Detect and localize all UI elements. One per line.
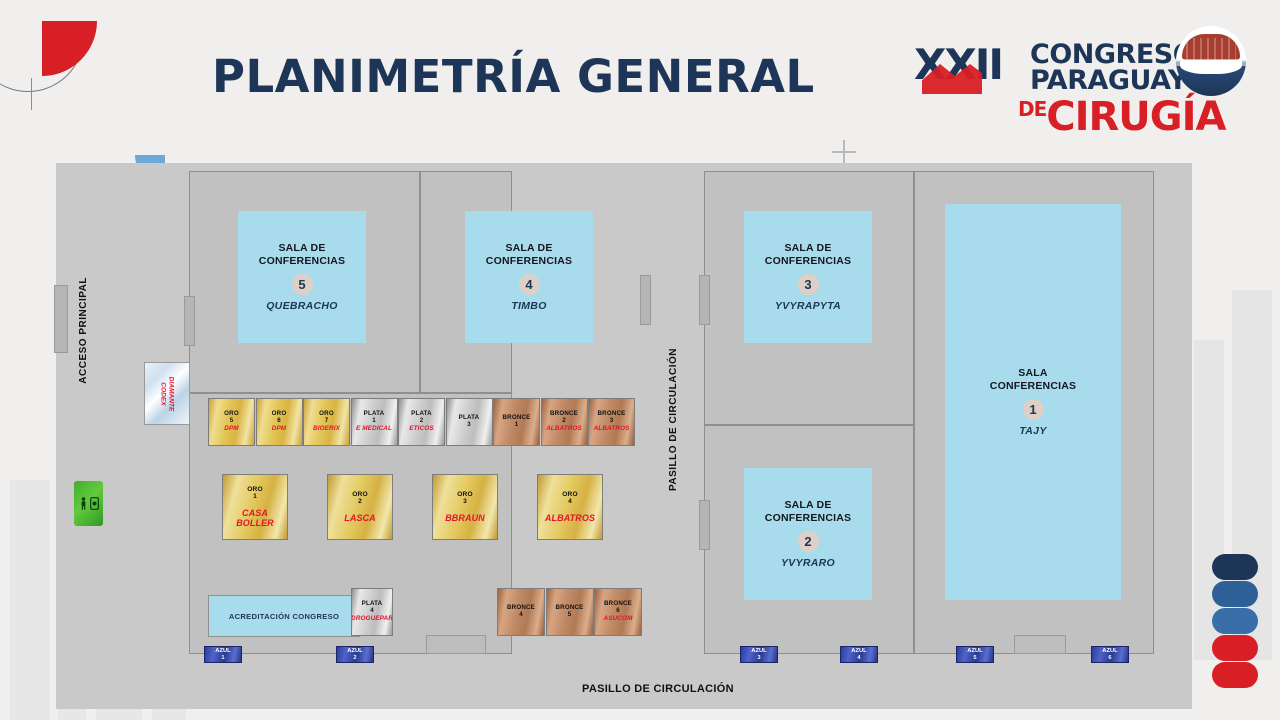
booth-number: 3 [463, 498, 467, 505]
booth-oro-3[interactable]: ORO3BBRAUN [432, 474, 498, 540]
sala-name: YVYRAPYTA [775, 300, 841, 312]
decorative-line [31, 78, 32, 110]
booth-tier: ORO [562, 491, 578, 498]
booth-tier: ORO [457, 491, 473, 498]
booth-number: 4 [370, 608, 373, 615]
door-nub-left-east [640, 275, 651, 325]
decorative-arc [0, 0, 84, 92]
door-gap-right-south [1014, 635, 1066, 654]
booth-bronce-2[interactable]: BRONCE2ALBATROS [541, 398, 588, 446]
booth-oro-2[interactable]: ORO2LASCA [327, 474, 393, 540]
sala-name: TIMBO [511, 300, 546, 312]
booth-number: 3 [467, 422, 470, 429]
sala-number: 1 [1023, 399, 1044, 420]
booth-brand: DPM [272, 426, 287, 433]
booth-brand: LASCA [344, 513, 376, 523]
booth-brand: BBRAUN [445, 513, 485, 523]
sala-number: 3 [798, 274, 819, 295]
booth-number: 4 [568, 498, 572, 505]
azul-marker-1[interactable]: AZUL1 [204, 646, 242, 663]
booth-number: 7 [325, 418, 328, 425]
divider-rooms-expo [189, 392, 512, 394]
booth-bronce-3[interactable]: BRONCE3ALBATROS [588, 398, 635, 446]
door-gap-left-south [426, 635, 486, 654]
azul-marker-4[interactable]: AZUL4 [840, 646, 878, 663]
brand-mark-decoration [1212, 554, 1258, 714]
floorplan-canvas: SALA DECONFERENCIAS 5 QUEBRACHO SALA DEC… [56, 163, 1192, 709]
booth-plata-2[interactable]: PLATA2ETICOS [398, 398, 445, 446]
page-title: PLANIMETRÍA GENERAL [212, 50, 815, 103]
azul-number: 1 [221, 655, 224, 661]
divider-sala5-sala4 [419, 171, 421, 394]
azul-number: 5 [973, 655, 976, 661]
restroom-icon [74, 481, 103, 526]
label-acceso-principal: ACCESO PRINCIPAL [78, 277, 89, 384]
booth-number: 1 [372, 418, 375, 425]
booth-number: 6 [277, 418, 280, 425]
booth-brand: BIOERIX [313, 426, 340, 433]
accreditation-booth[interactable]: ACREDITACIÓN CONGRESO [208, 595, 360, 637]
sala-conferencias-5[interactable]: SALA DECONFERENCIAS 5 QUEBRACHO [238, 211, 366, 343]
booth-number: 4 [519, 612, 522, 619]
sala-number: 4 [519, 274, 540, 295]
sala-title: SALACONFERENCIAS [990, 367, 1076, 393]
sala-conferencias-3[interactable]: SALA DECONFERENCIAS 3 YVYRAPYTA [744, 211, 872, 343]
logo-de: DE [1018, 97, 1046, 121]
booth-brand: CASABOLLER [236, 508, 274, 528]
azul-number: 6 [1108, 655, 1111, 661]
sala-number: 5 [292, 274, 313, 295]
booth-number: 3 [610, 418, 613, 425]
divider-sala3-sala2 [704, 424, 914, 426]
divider-right-vertical [913, 171, 915, 654]
booth-number: 5 [230, 418, 233, 425]
azul-number: 4 [857, 655, 860, 661]
azul-number: 3 [757, 655, 760, 661]
sala-title: SALA DECONFERENCIAS [765, 242, 851, 268]
booth-tier: ORO [352, 491, 368, 498]
azul-marker-5[interactable]: AZUL5 [956, 646, 994, 663]
door-nub-right-west-bottom [699, 500, 710, 550]
booth-brand: ALBATROS [594, 426, 630, 433]
booth-brand: ASUCOM [603, 616, 632, 623]
azul-number: 2 [353, 655, 356, 661]
booth-number: 1 [253, 493, 257, 500]
booth-plata-3[interactable]: PLATA3 [446, 398, 493, 446]
booth-tier: ORO [247, 486, 263, 493]
booth-oro-6[interactable]: ORO6DPM [256, 398, 303, 446]
booth-oro-7[interactable]: ORO7BIOERIX [303, 398, 350, 446]
sala-conferencias-1[interactable]: SALACONFERENCIAS 1 TAJY [945, 204, 1121, 600]
logo-cirugia: CIRUGÍA [1046, 94, 1225, 140]
azul-marker-6[interactable]: AZUL6 [1091, 646, 1129, 663]
booth-bronce-6[interactable]: BRONCE6ASUCOM [594, 588, 642, 636]
booth-oro-5[interactable]: ORO5DPM [208, 398, 255, 446]
diamante-label: DIAMANTECODEX [159, 376, 174, 411]
booth-brand: ALBATROS [546, 426, 582, 433]
restroom-sign-icon [90, 497, 99, 510]
door-nub-right-west-top [699, 275, 710, 325]
booth-plata-4[interactable]: PLATA 4 DROGUEPAR [351, 588, 393, 636]
label-pasillo-vertical: PASILLO DE CIRCULACIÓN [668, 348, 679, 491]
accreditation-label: ACREDITACIÓN CONGRESO [229, 612, 339, 621]
booth-number: 2 [358, 498, 362, 505]
globe-roof-icon [1176, 26, 1246, 96]
decorative-red-quarter-circle [42, 21, 97, 76]
sala-conferencias-2[interactable]: SALA DECONFERENCIAS 2 YVYRARO [744, 468, 872, 600]
logo-de-cirugia: DECIRUGÍA [1018, 94, 1225, 140]
restroom-person-icon [79, 497, 88, 510]
sala-name: QUEBRACHO [266, 300, 338, 312]
booth-number: 5 [568, 612, 571, 619]
azul-marker-3[interactable]: AZUL3 [740, 646, 778, 663]
sala-name: YVYRARO [781, 557, 835, 569]
booth-oro-1[interactable]: ORO1CASABOLLER [222, 474, 288, 540]
sala-title: SALA DECONFERENCIAS [765, 499, 851, 525]
congress-logo: XXII CONGRESO PARAGUAYO DECIRUGÍA [906, 22, 1246, 132]
sala-conferencias-4[interactable]: SALA DECONFERENCIAS 4 TIMBO [465, 211, 593, 343]
azul-marker-2[interactable]: AZUL2 [336, 646, 374, 663]
booth-plata-1[interactable]: PLATA1E MEDICAL [351, 398, 398, 446]
sala-title: SALA DECONFERENCIAS [486, 242, 572, 268]
booth-number: 6 [616, 608, 619, 615]
booth-diamante-codex[interactable]: DIAMANTECODEX [144, 362, 190, 425]
booth-brand: ALBATROS [545, 513, 595, 523]
booth-brand: E MEDICAL [356, 426, 392, 433]
booth-brand: ETICOS [409, 426, 433, 433]
booth-bronce-5[interactable]: BRONCE5 [546, 588, 594, 636]
sala-number: 2 [798, 531, 819, 552]
access-nub-main-entrance [54, 285, 68, 353]
booth-brand: DPM [224, 426, 239, 433]
booth-number: 2 [562, 418, 565, 425]
booth-oro-4[interactable]: ORO4ALBATROS [537, 474, 603, 540]
crosshair-marker [832, 140, 856, 164]
booth-brand: DROGUEPAR [351, 616, 393, 623]
label-pasillo-horizontal: PASILLO DE CIRCULACIÓN [582, 683, 734, 695]
booth-bronce-4[interactable]: BRONCE4 [497, 588, 545, 636]
booth-bronce-1[interactable]: BRONCE1 [493, 398, 540, 446]
booth-number: 2 [420, 418, 423, 425]
sala-name: TAJY [1019, 425, 1046, 437]
booth-number: 1 [515, 422, 518, 429]
sala-title: SALA DECONFERENCIAS [259, 242, 345, 268]
door-nub-left-west [184, 296, 195, 346]
